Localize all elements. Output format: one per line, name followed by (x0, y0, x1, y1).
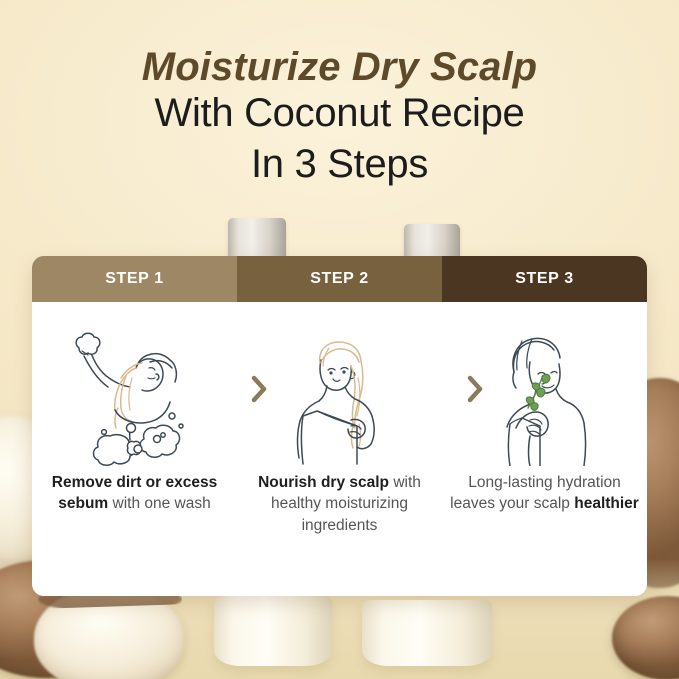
step-3-caption-bold: healthier (574, 495, 639, 512)
step-1-caption: Remove dirt or excess sebum with one was… (40, 472, 229, 515)
shampoo-bottle-body-right (362, 600, 492, 666)
step-3-caption: Long-lasting hydration leaves your scalp… (450, 472, 639, 515)
step-tab-bar: STEP 1 STEP 2 STEP 3 (32, 256, 647, 302)
step-tab-1-label: STEP 1 (105, 270, 163, 288)
step-1-caption-light: with one wash (113, 495, 211, 512)
step-tab-1[interactable]: STEP 1 (32, 256, 237, 302)
shampoo-bottle-body-left (214, 596, 332, 666)
step-content-row: Remove dirt or excess sebum with one was… (32, 302, 647, 596)
step-tab-2-label: STEP 2 (310, 270, 368, 288)
step-tab-3-label: STEP 3 (515, 270, 573, 288)
steps-card: STEP 1 STEP 2 STEP 3 (32, 256, 647, 596)
step-2-caption: Nourish dry scalp with healthy moisturiz… (245, 472, 434, 536)
step-panel-2: Nourish dry scalp with healthy moisturiz… (237, 302, 442, 596)
woman-washing-hair-with-foam-illustration (60, 316, 210, 466)
headline-line-1: Moisturize Dry Scalp (0, 46, 679, 88)
headline-line-3: In 3 Steps (0, 139, 679, 190)
headline-line-2: With Coconut Recipe (0, 88, 679, 139)
step-panel-3: Long-lasting hydration leaves your scalp… (442, 302, 647, 596)
woman-with-hair-towel-holding-leaf-illustration (470, 316, 620, 466)
step-2-caption-bold: Nourish dry scalp (258, 474, 389, 491)
woman-in-towel-holding-hair-illustration (265, 316, 415, 466)
page-headline: Moisturize Dry Scalp With Coconut Recipe… (0, 46, 679, 190)
step-panel-1: Remove dirt or excess sebum with one was… (32, 302, 237, 596)
step-tab-3[interactable]: STEP 3 (442, 256, 647, 302)
step-tab-2[interactable]: STEP 2 (237, 256, 442, 302)
